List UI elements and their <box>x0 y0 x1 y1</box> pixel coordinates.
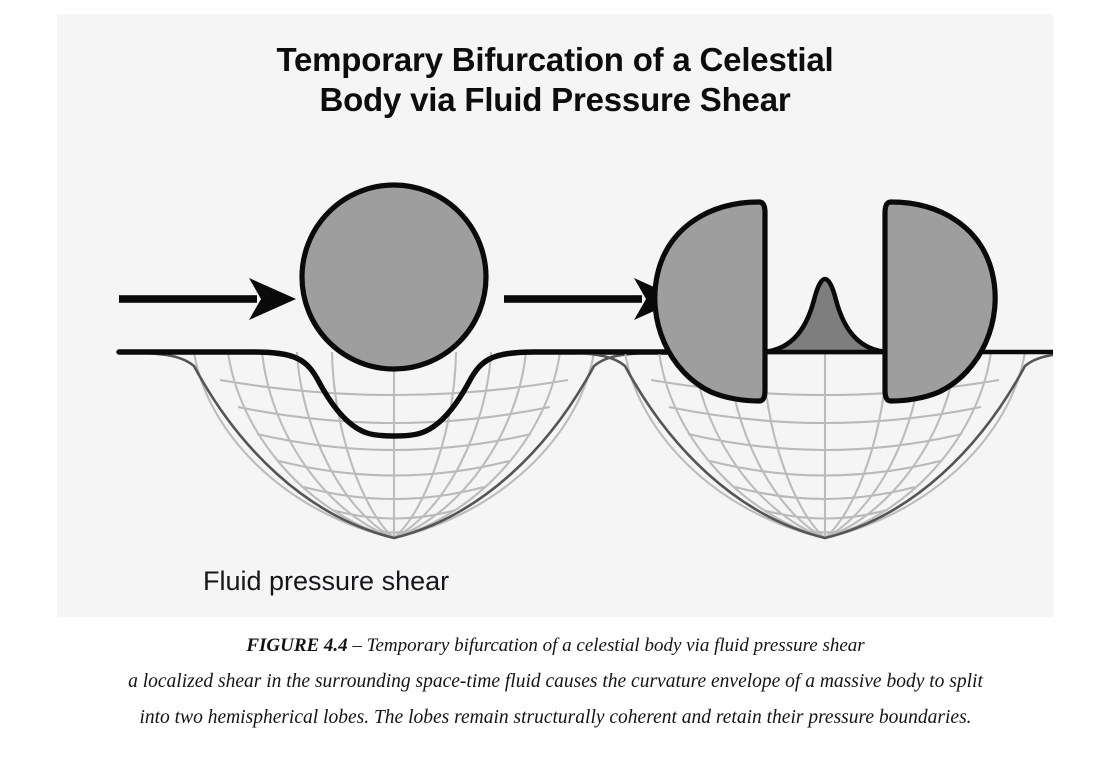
caption-line-3: into two hemispherical lobes. The lobes … <box>0 700 1111 736</box>
caption-line-1-text: Temporary bifurcation of a celestial bod… <box>367 635 865 656</box>
fluid-pressure-shear-label: Fluid pressure shear <box>203 566 449 597</box>
caption-figure-number: FIGURE 4.4 <box>246 635 347 656</box>
left-well-grid-meridians <box>194 352 594 538</box>
bifurcation-diagram-svg <box>57 14 1053 617</box>
figure-caption: FIGURE 4.4 – Temporary bifurcation of a … <box>0 628 1111 736</box>
shear-arrow-left <box>119 278 296 320</box>
caption-line-2: a localized shear in the surrounding spa… <box>0 664 1111 700</box>
celestial-body-sphere <box>302 185 486 369</box>
figure-panel: Temporary Bifurcation of a Celestial Bod… <box>57 14 1053 617</box>
figure-root: Temporary Bifurcation of a Celestial Bod… <box>0 0 1111 765</box>
hemisphere-lobe-left <box>655 202 765 401</box>
caption-dash: – <box>348 635 367 656</box>
left-panel-group <box>119 185 681 538</box>
pressure-ridge-peak <box>763 279 887 352</box>
right-panel-group <box>550 202 1053 538</box>
hemisphere-lobe-right <box>885 202 995 401</box>
caption-line-1: FIGURE 4.4 – Temporary bifurcation of a … <box>0 628 1111 664</box>
right-well-grid-meridians <box>625 352 1025 538</box>
right-well-rim <box>550 352 1053 538</box>
